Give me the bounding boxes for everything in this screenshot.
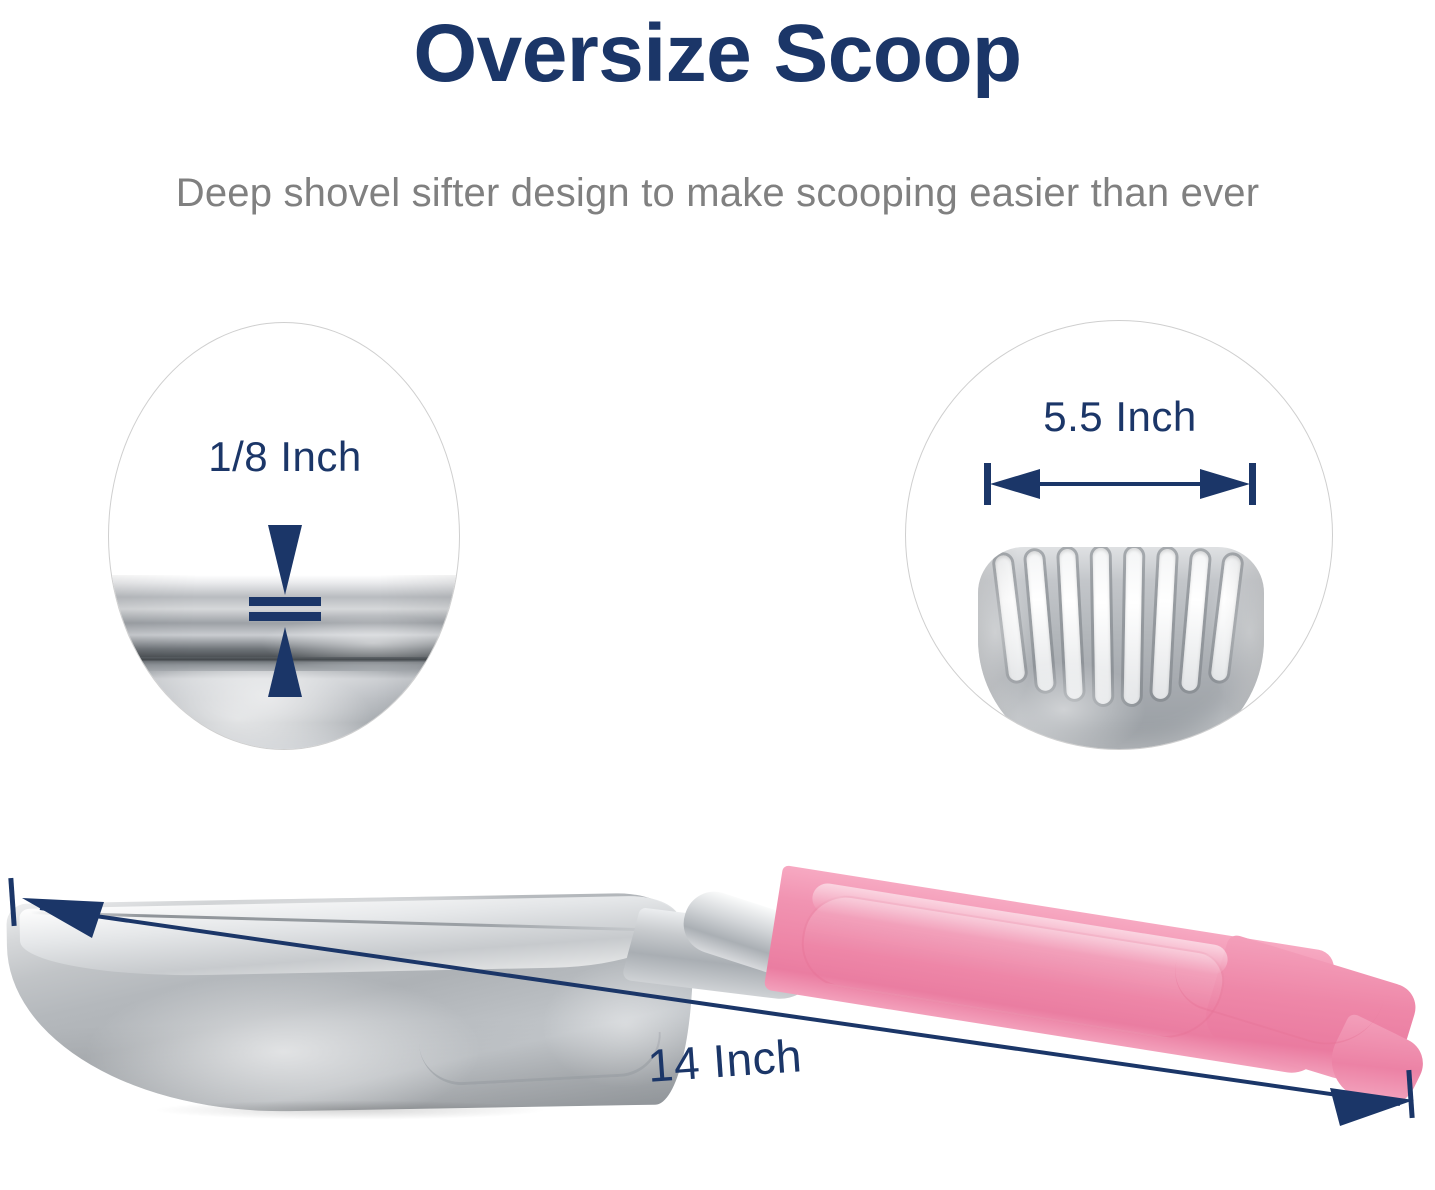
sifter-body bbox=[978, 547, 1264, 750]
sifter-slot bbox=[1059, 549, 1083, 700]
rim-bar-top bbox=[249, 597, 321, 606]
inset-label-thickness: 1/8 Inch bbox=[109, 433, 460, 481]
sifter-slot bbox=[1026, 551, 1054, 692]
page-subtitle: Deep shovel sifter design to make scoopi… bbox=[0, 168, 1435, 218]
sifter-slot bbox=[994, 554, 1025, 681]
arrow-head-down bbox=[268, 525, 302, 595]
inset-circle-width: 5.5 Inch bbox=[905, 320, 1333, 750]
horizontal-dimension-arrow-icon bbox=[982, 461, 1258, 507]
length-label: 14 Inch bbox=[646, 1029, 804, 1092]
sifter-slot bbox=[1093, 548, 1112, 704]
sifter-slot bbox=[1210, 554, 1241, 681]
length-dimension-arrow-icon bbox=[0, 860, 1435, 1190]
arrow-head-up bbox=[268, 627, 302, 697]
page-title: Oversize Scoop bbox=[0, 8, 1435, 100]
product-photo bbox=[0, 860, 1435, 1190]
sifter-head-photo bbox=[978, 547, 1264, 750]
inset-label-width: 5.5 Inch bbox=[906, 393, 1333, 441]
rim-bar-bottom bbox=[249, 612, 321, 621]
sifter-slot bbox=[1181, 551, 1209, 692]
inset-circle-thickness: 1/8 Inch bbox=[108, 322, 460, 750]
product-infographic: Oversize Scoop Deep shovel sifter design… bbox=[0, 0, 1435, 1190]
sifter-slot bbox=[1152, 549, 1176, 700]
sifter-slot bbox=[1124, 548, 1143, 704]
